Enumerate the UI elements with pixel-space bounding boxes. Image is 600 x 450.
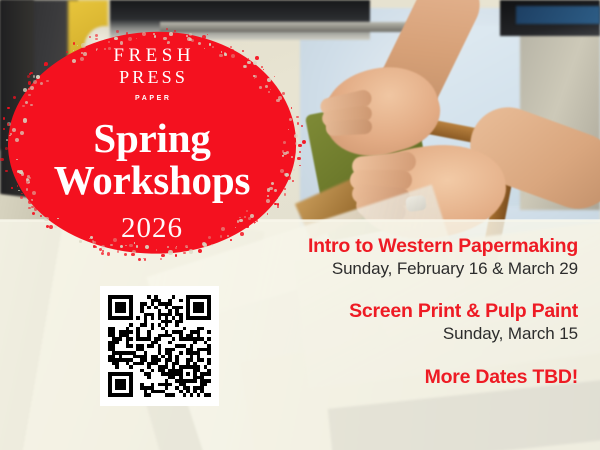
workshop-2-title: Screen Print & Pulp Paint: [248, 301, 578, 323]
more-dates-label: More Dates TBD!: [248, 366, 578, 389]
brand-logo-press: PRESS: [92, 66, 212, 89]
more-dates-note: More Dates TBD!: [248, 366, 578, 389]
blob-content: FRESH PRESS PAPER Spring Workshops 2026: [8, 32, 296, 254]
poster-title-line2: Workshops: [54, 160, 250, 200]
qr-code[interactable]: [100, 286, 219, 406]
brand-logo-fresh: FRESH: [92, 46, 212, 65]
workshop-1-dates: Sunday, February 16 & March 29: [248, 259, 578, 279]
photo-upper-finger-3: [326, 119, 373, 136]
brand-logo: FRESH PRESS PAPER: [92, 46, 212, 102]
workshop-1-title: Intro to Western Papermaking: [248, 236, 578, 258]
photo-blue-counter: [516, 6, 600, 24]
poster-title: Spring Workshops: [54, 118, 250, 200]
workshop-2-dates: Sunday, March 15: [248, 324, 578, 344]
workshop-list: Intro to Western Papermaking Sunday, Feb…: [248, 236, 578, 398]
workshop-item-1: Intro to Western Papermaking Sunday, Feb…: [248, 236, 578, 279]
workshop-item-2: Screen Print & Pulp Paint Sunday, March …: [248, 301, 578, 344]
poster-year: 2026: [121, 212, 183, 245]
photo-tray-edge: [160, 22, 410, 32]
poster: FRESH PRESS PAPER Spring Workshops 2026 …: [0, 0, 600, 450]
qr-code-matrix: [108, 295, 211, 397]
poster-title-line1: Spring: [54, 118, 250, 158]
brand-logo-paper: PAPER: [92, 95, 212, 102]
